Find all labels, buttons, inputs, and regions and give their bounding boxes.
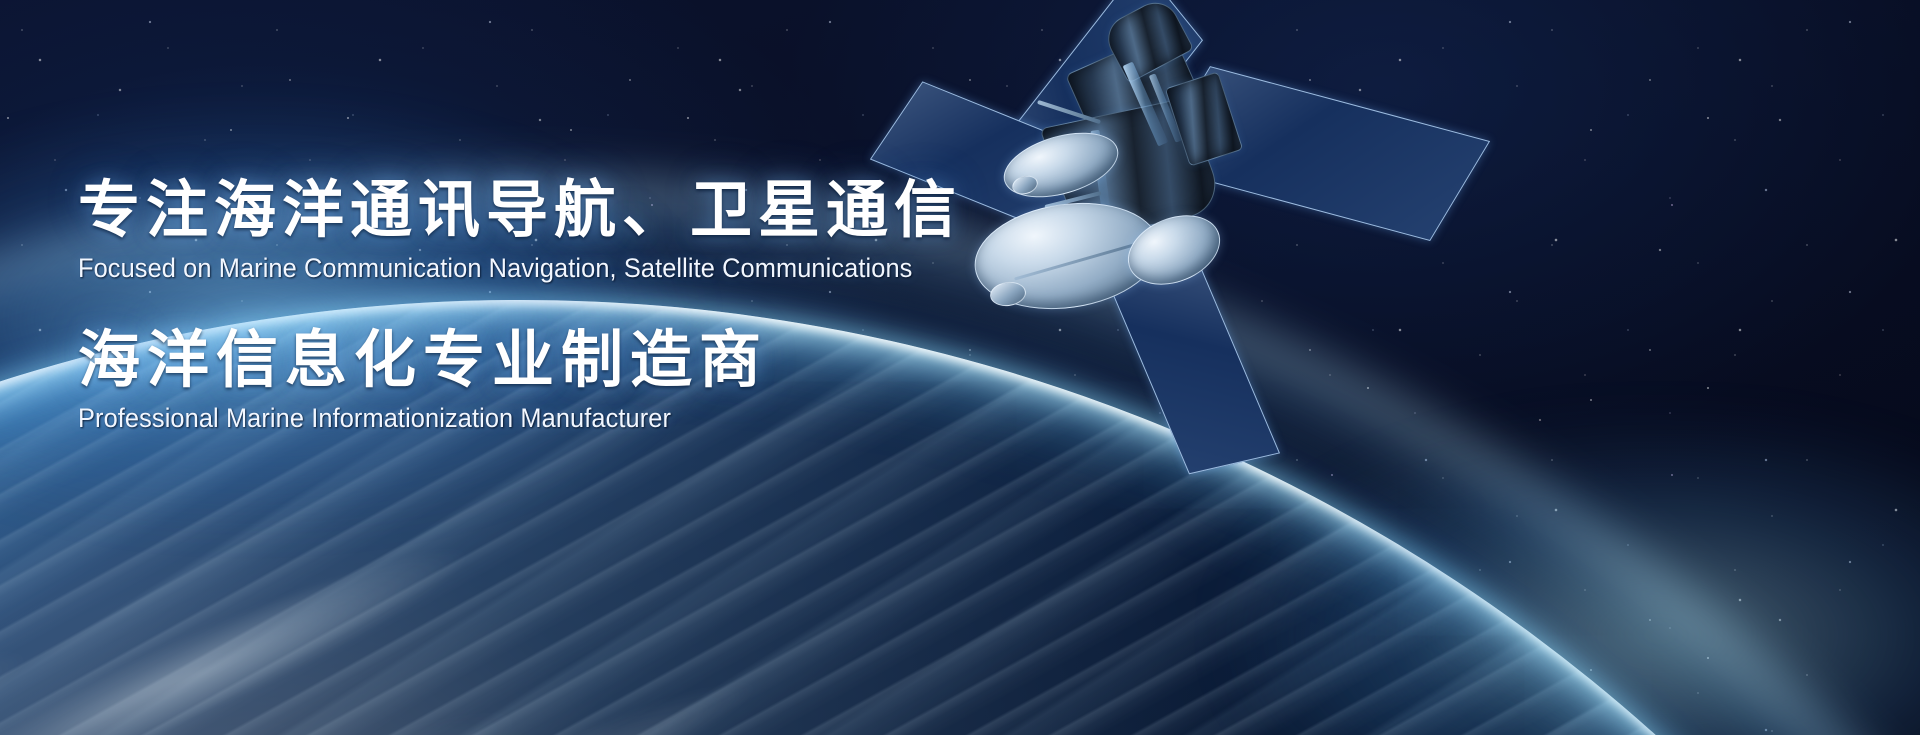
headline-group-1: 专注海洋通讯导航、卫星通信 Focused on Marine Communic…	[78, 178, 1078, 284]
hero-banner: 专注海洋通讯导航、卫星通信 Focused on Marine Communic…	[0, 0, 1920, 735]
headline-secondary-en: Professional Marine Informationization M…	[78, 403, 1018, 434]
headline-primary-en: Focused on Marine Communication Navigati…	[78, 253, 1018, 284]
headline-group-2: 海洋信息化专业制造商 Professional Marine Informati…	[78, 328, 1078, 434]
earth-glow-highlight-lower-right	[1230, 420, 1920, 735]
headline-primary-cn: 专注海洋通讯导航、卫星通信	[78, 178, 1078, 243]
banner-copy: 专注海洋通讯导航、卫星通信 Focused on Marine Communic…	[78, 178, 1078, 434]
headline-secondary-cn: 海洋信息化专业制造商	[78, 328, 1078, 393]
